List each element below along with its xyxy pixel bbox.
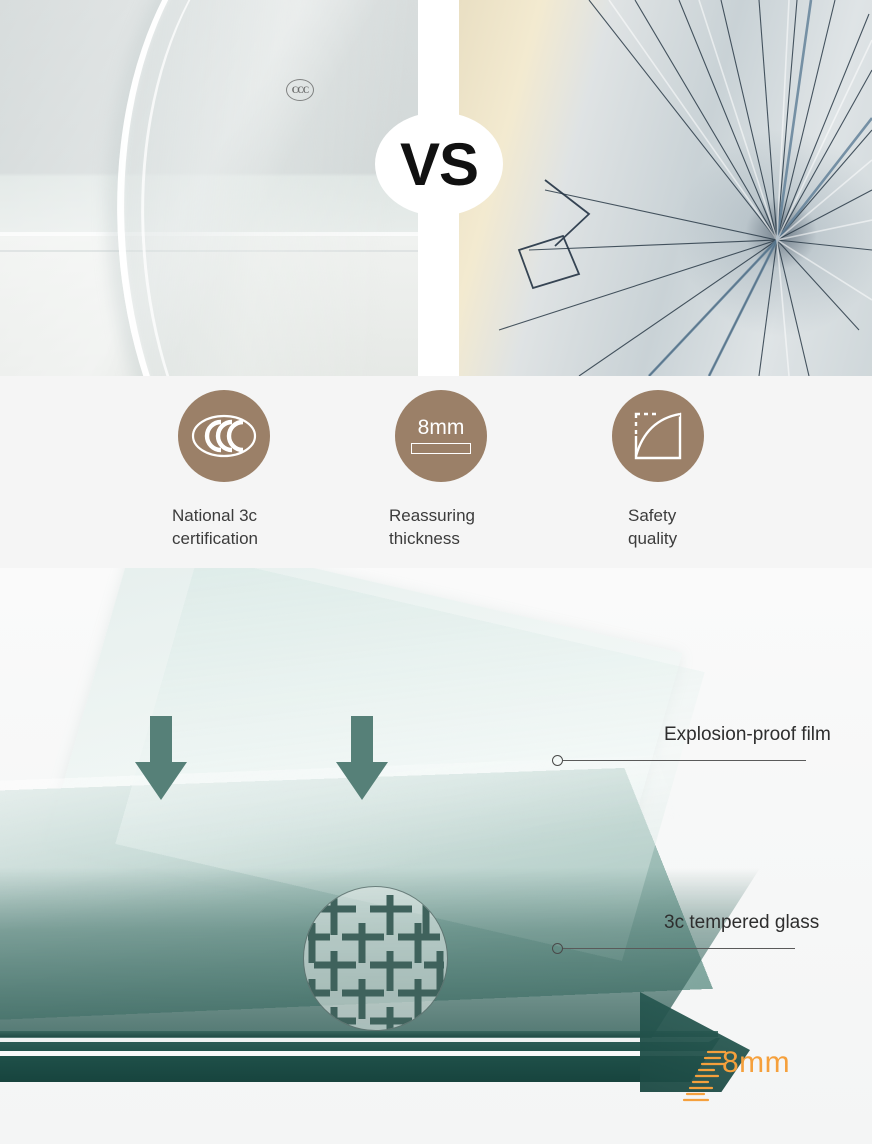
glass-structure-diagram: Explosion-proof film 3c tempered glass 8… <box>0 568 872 1144</box>
feature-label-line2: thickness <box>389 529 460 548</box>
hero-comparison-section: CCC <box>0 0 872 376</box>
feature-label-line1: Safety <box>628 506 676 525</box>
ruler-scale-icon <box>682 1040 726 1104</box>
pressure-arrow-icon <box>133 716 189 802</box>
ccc-logo-glyph <box>191 413 257 459</box>
callout-leader-line <box>563 948 795 949</box>
safety-corner-glyph <box>630 408 686 464</box>
feature-item-safety: Safety quality <box>558 390 758 550</box>
intact-glass-photo: CCC <box>0 0 418 376</box>
thickness-icon-text: 8mm <box>418 417 465 438</box>
feature-label-line2: certification <box>172 529 258 548</box>
ccc-etched-mark: CCC <box>286 79 314 101</box>
glass-edge-highlight-top <box>0 1038 716 1042</box>
vs-badge: VS <box>375 112 503 216</box>
callout-marker-icon <box>552 943 563 954</box>
feature-label-line1: Reassuring <box>389 506 475 525</box>
callout-label: Explosion-proof film <box>664 724 831 746</box>
thickness-bar-glyph <box>411 443 471 454</box>
feature-label-line2: quality <box>628 529 677 548</box>
callout-marker-icon <box>552 755 563 766</box>
callout-label: 3c tempered glass <box>664 912 819 934</box>
glass-edge-highlight-bottom <box>0 1051 714 1056</box>
safety-corner-icon <box>612 390 704 482</box>
feature-label-certification: National 3c certification <box>124 504 324 550</box>
basket-weave-pattern-icon <box>303 886 448 1031</box>
thickness-callout-label: 8mm <box>722 1046 790 1080</box>
ccc-certification-icon <box>178 390 270 482</box>
feature-label-line1: National 3c <box>172 506 257 525</box>
callout-leader-line <box>563 760 806 761</box>
weave-glyph <box>304 887 447 1030</box>
shattered-glass-photo <box>459 0 872 376</box>
feature-label-thickness: Reassuring thickness <box>341 504 541 550</box>
glass-edge-seam <box>0 1031 718 1037</box>
curved-glass-edge-inner <box>118 0 418 376</box>
product-detail-page: CCC <box>0 0 872 1144</box>
pressure-arrow-icon <box>334 716 390 802</box>
feature-highlights-section: National 3c certification 8mm Reassuring… <box>0 376 872 568</box>
feature-item-thickness: 8mm Reassuring thickness <box>341 390 541 550</box>
feature-item-certification: National 3c certification <box>124 390 324 550</box>
feature-label-safety: Safety quality <box>558 504 758 550</box>
thickness-8mm-icon: 8mm <box>395 390 487 482</box>
glass-edge-slab <box>0 1038 720 1082</box>
crack-lines-graphic <box>459 0 872 376</box>
thickness-icon-inner: 8mm <box>411 417 471 454</box>
